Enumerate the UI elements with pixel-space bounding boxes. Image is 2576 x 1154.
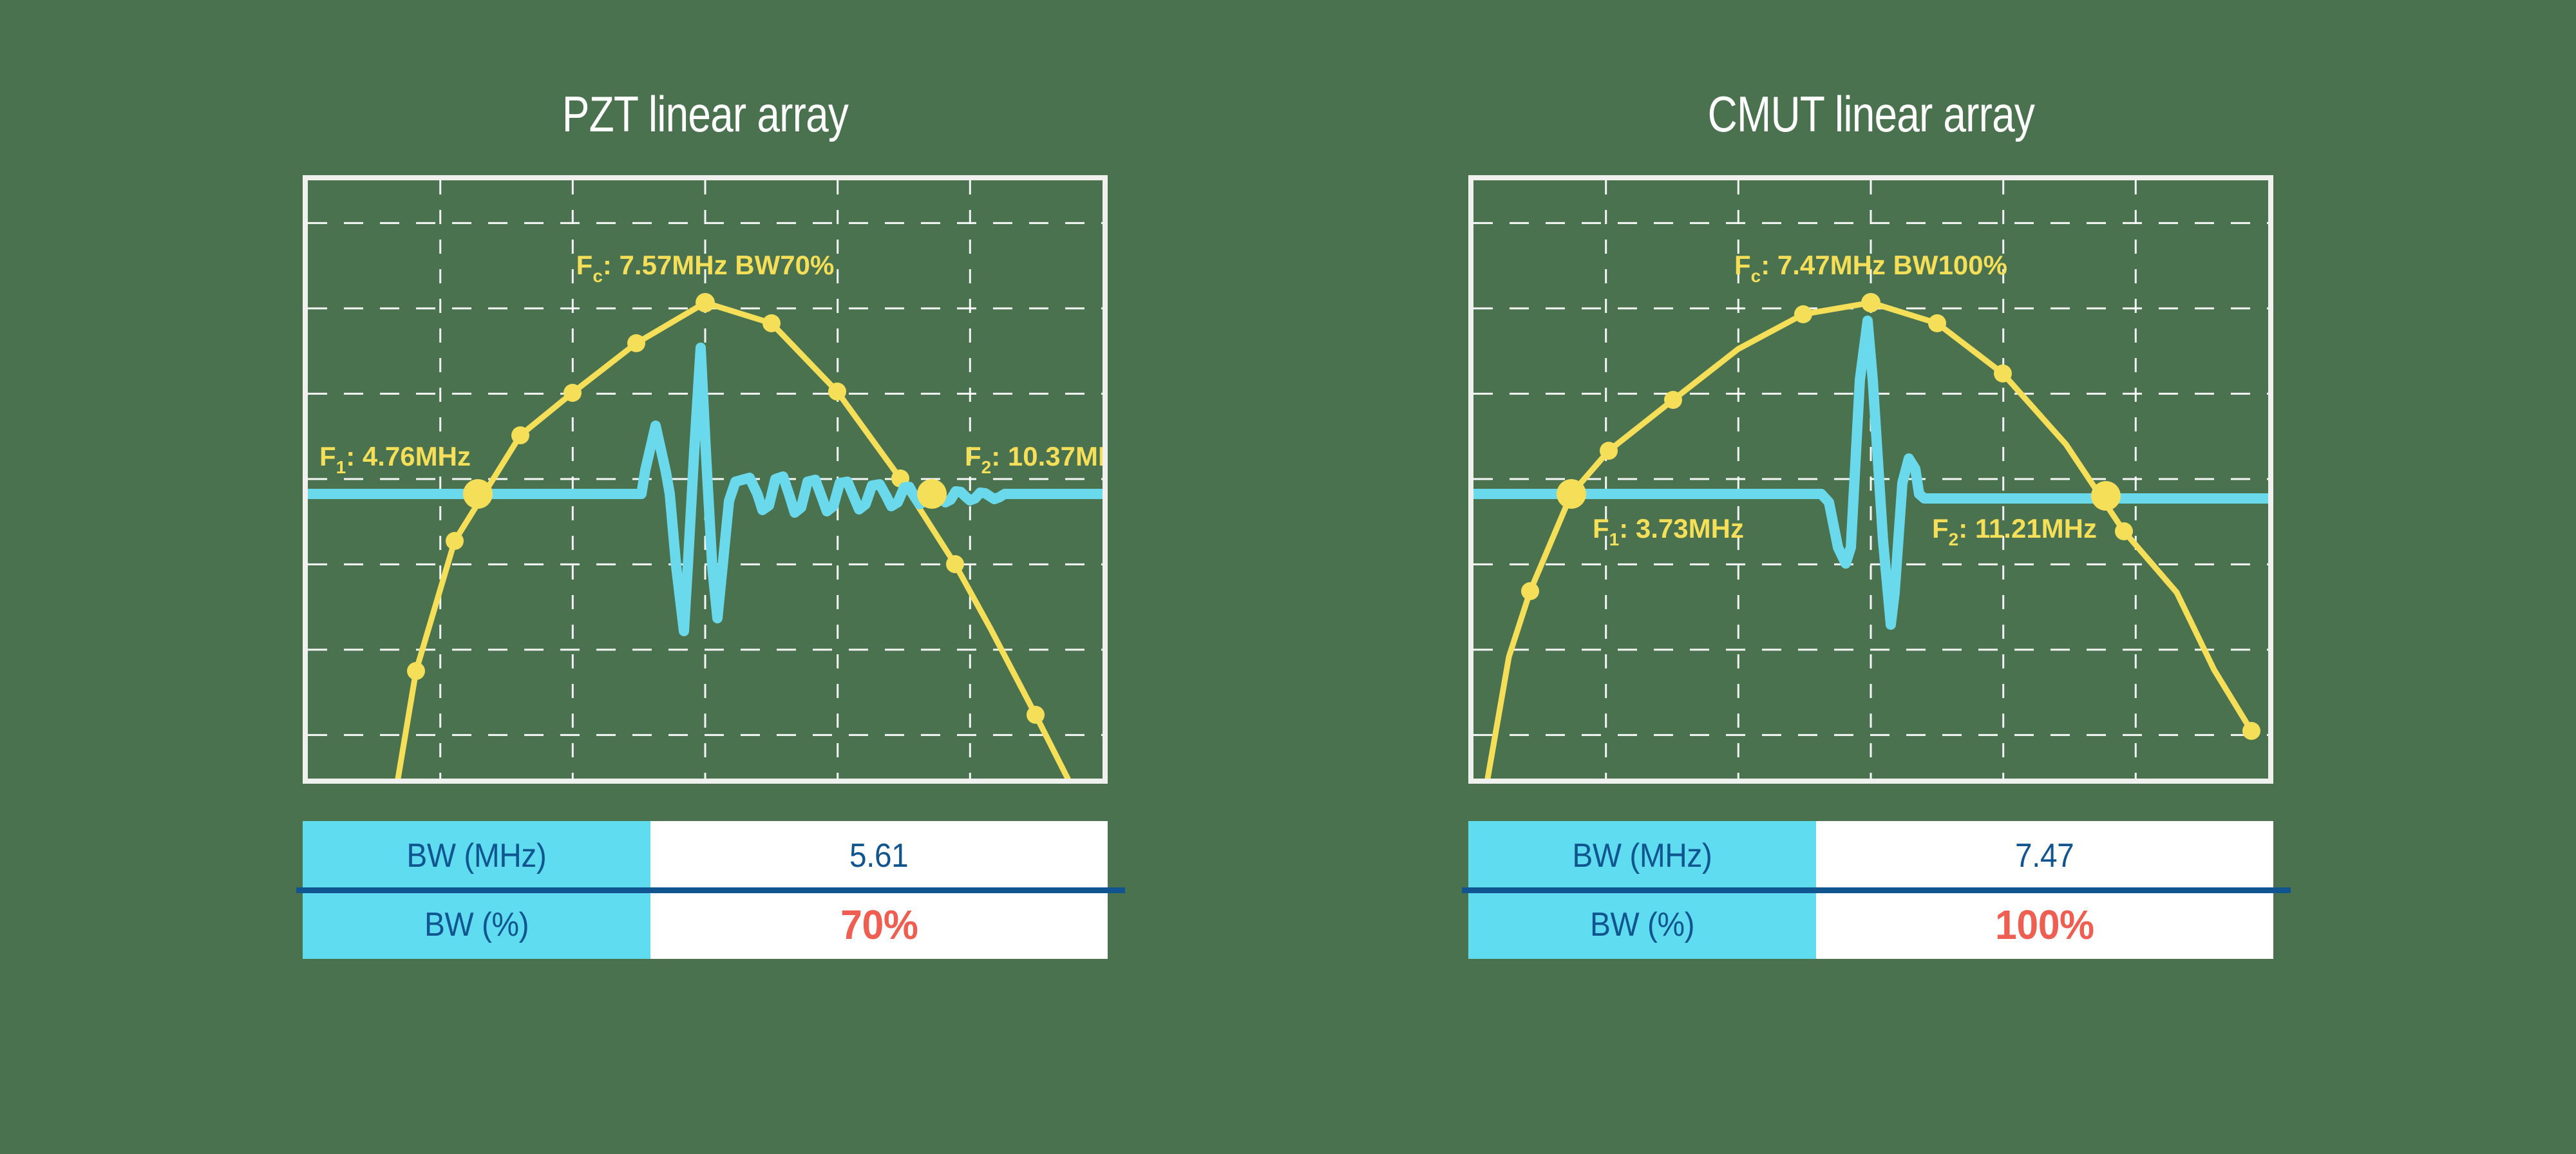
- annotation-f2-cmut: F2: 11.21MHz: [1932, 513, 2097, 549]
- bw-mhz-label-cmut: BW (MHz): [1468, 821, 1816, 890]
- table-divider-pzt: [296, 887, 1125, 893]
- bw-mhz-label-text-pzt: BW (MHz): [407, 837, 547, 875]
- bw-table-wrap-cmut: BW (MHz) 7.47 BW (%) 100%: [1468, 821, 2273, 959]
- bw-pct-label-cmut: BW (%): [1468, 890, 1816, 959]
- comparison-panels: PZT linear array: [0, 0, 2576, 1154]
- marker-f1-pzt: [463, 479, 493, 509]
- panel-pzt: PZT linear array: [303, 0, 1108, 959]
- bw-pct-label-pzt: BW (%): [303, 890, 650, 959]
- table-divider-cmut: [1462, 887, 2291, 893]
- bw-mhz-label-pzt: BW (MHz): [303, 821, 650, 890]
- bw-mhz-value-text-cmut: 7.47: [2015, 837, 2074, 875]
- bw-pct-value-text-cmut: 100%: [1995, 901, 2094, 949]
- chart-cmut: Fc: 7.47MHz BW100% F1: 3.73MHz F2: 11.21…: [1468, 175, 2273, 784]
- bw-pct-value-text-pzt: 70%: [840, 901, 918, 949]
- marker-f1-cmut: [1557, 479, 1586, 509]
- panel-cmut: CMUT linear array: [1468, 0, 2273, 959]
- marker-f2-pzt: [917, 479, 947, 509]
- annotation-f1-cmut: F1: 3.73MHz: [1593, 513, 1744, 549]
- panel-title-pzt: PZT linear array: [562, 89, 848, 139]
- table-row: BW (%) 100%: [1468, 890, 2273, 959]
- bw-mhz-label-text-cmut: BW (MHz): [1573, 837, 1712, 875]
- chart-pzt-svg: Fc: 7.57MHz BW70% F1: 4.76MHz F2: 10.37M…: [308, 180, 1103, 779]
- bw-pct-value-pzt: 70%: [650, 890, 1108, 959]
- bw-pct-label-text-cmut: BW (%): [1590, 905, 1694, 944]
- marker-f2-cmut: [2091, 481, 2121, 511]
- panel-title-cmut: CMUT linear array: [1707, 89, 2034, 139]
- bw-pct-label-text-pzt: BW (%): [424, 905, 529, 944]
- chart-pzt: Fc: 7.57MHz BW70% F1: 4.76MHz F2: 10.37M…: [303, 175, 1108, 784]
- bw-table-wrap-pzt: BW (MHz) 5.61 BW (%) 70%: [303, 821, 1108, 959]
- bandwidth-curve-pzt: [398, 293, 1068, 779]
- bw-pct-value-cmut: 100%: [1816, 890, 2273, 959]
- annotation-f1-pzt: F1: 4.76MHz: [319, 441, 471, 477]
- annotation-f2-pzt: F2: 10.37MHz: [965, 441, 1103, 477]
- bw-mhz-value-pzt: 5.61: [650, 821, 1108, 890]
- table-row: BW (MHz) 5.61: [303, 821, 1108, 890]
- bw-mhz-value-text-pzt: 5.61: [849, 837, 908, 875]
- impulse-waveform-pzt: [308, 348, 1103, 631]
- chart-cmut-svg: Fc: 7.47MHz BW100% F1: 3.73MHz F2: 11.21…: [1473, 180, 2268, 779]
- table-row: BW (MHz) 7.47: [1468, 821, 2273, 890]
- table-row: BW (%) 70%: [303, 890, 1108, 959]
- bw-mhz-value-cmut: 7.47: [1816, 821, 2273, 890]
